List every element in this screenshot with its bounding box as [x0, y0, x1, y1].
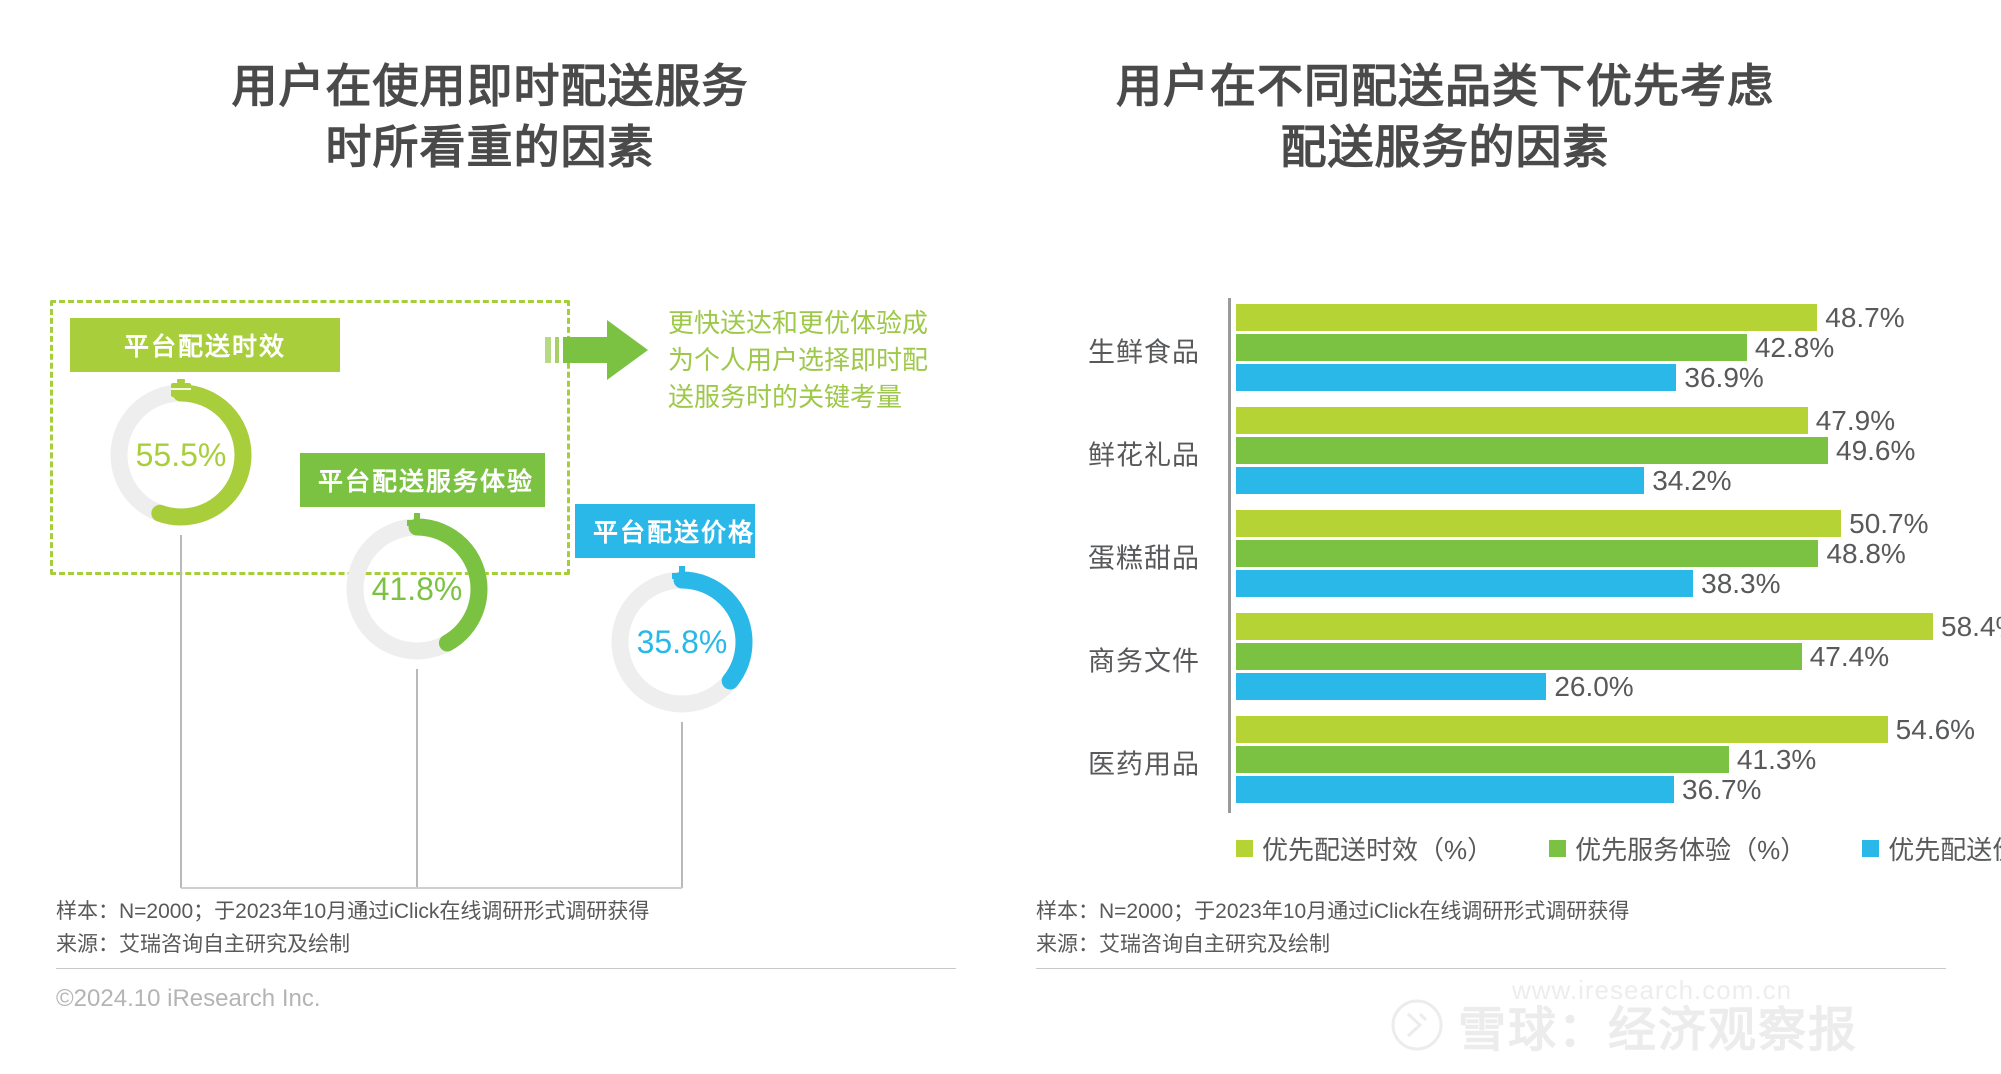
donut-value-3: 35.8% [605, 565, 759, 719]
page-title-left: 用户在使用即时配送服务 时所看重的因素 [40, 56, 940, 177]
chart-value-label: 36.7% [1674, 774, 1761, 806]
chart-bar [1236, 746, 1729, 773]
chart-category-row: 商务文件58.4%47.4%26.0% [1000, 607, 2001, 710]
chart-value-label: 54.6% [1888, 714, 1975, 746]
legend-label: 优先配送价格（%） [1888, 830, 2001, 867]
xueqiu-logo-icon [1390, 998, 1444, 1052]
chart-legend: 优先配送时效（%）优先服务体验（%）优先配送价格（%） [1236, 830, 2001, 867]
chart-bar [1236, 510, 1841, 537]
titles-row: 用户在使用即时配送服务 时所看重的因素 用户在不同配送品类下优先考虑 配送服务的… [0, 0, 2001, 177]
donut-value-2: 41.8% [340, 512, 494, 666]
chart-bar [1236, 334, 1747, 361]
donut-gauge-3: 35.8% [605, 565, 759, 719]
donut-value-1: 55.5% [104, 378, 258, 532]
chart-value-label: 47.4% [1802, 641, 1889, 673]
page-title-left-line-2: 时所看重的因素 [40, 117, 940, 178]
chart-value-label: 34.2% [1644, 465, 1731, 497]
chart-category-row: 医药用品54.6%41.3%36.7% [1000, 710, 2001, 813]
chart-bar [1236, 570, 1693, 597]
bar-chart-panel: 生鲜食品48.7%42.8%36.9%鲜花礼品47.9%49.6%34.2%蛋糕… [1000, 290, 2001, 980]
chart-value-label: 26.0% [1546, 671, 1633, 703]
legend-label: 优先配送时效（%） [1262, 830, 1493, 867]
watermark: 雪球：经济观察报 [1390, 990, 1858, 1060]
chart-value-label: 36.9% [1676, 362, 1763, 394]
legend-item[interactable]: 优先配送价格（%） [1862, 830, 2001, 867]
footnote-right-sample: 样本：N=2000；于2023年10月通过iClick在线调研形式调研获得 [1036, 896, 1629, 929]
chart-value-label: 42.8% [1747, 332, 1834, 364]
footnote-left-sample: 样本：N=2000；于2023年10月通过iClick在线调研形式调研获得 [56, 896, 649, 929]
page-title-left-line-1: 用户在使用即时配送服务 [40, 56, 940, 117]
chart-bar [1236, 643, 1802, 670]
chart-category-row: 鲜花礼品47.9%49.6%34.2% [1000, 401, 2001, 504]
chart-bar [1236, 407, 1808, 434]
legend-item[interactable]: 优先服务体验（%） [1549, 830, 1806, 867]
chart-bar [1236, 364, 1676, 391]
chart-value-label: 48.7% [1817, 302, 1904, 334]
page-title-right-line-1: 用户在不同配送品类下优先考虑 [980, 56, 1910, 117]
chart-value-label: 49.6% [1828, 435, 1915, 467]
chart-bar [1236, 304, 1817, 331]
chart-category-row: 生鲜食品48.7%42.8%36.9% [1000, 298, 2001, 401]
chart-category-label: 生鲜食品 [1000, 330, 1200, 369]
chart-value-label: 58.4% [1933, 611, 2001, 643]
chart-category-label: 蛋糕甜品 [1000, 536, 1200, 575]
chart-category-row: 蛋糕甜品50.7%48.8%38.3% [1000, 504, 2001, 607]
chart-value-label: 50.7% [1841, 508, 1928, 540]
chart-category-label: 商务文件 [1000, 639, 1200, 678]
chart-value-label: 38.3% [1693, 568, 1780, 600]
chart-bar [1236, 673, 1546, 700]
chart-bar [1236, 467, 1644, 494]
chart-bar-group: 50.7%48.8%38.3% [1236, 510, 1996, 602]
footnote-right-source: 来源：艾瑞咨询自主研究及绘制 [1036, 929, 1629, 962]
legend-swatch-icon [1862, 840, 1879, 857]
copyright-text: ©2024.10 iResearch Inc. [56, 985, 321, 1013]
chart-bar-group: 47.9%49.6%34.2% [1236, 407, 1996, 499]
page-title-right-line-2: 配送服务的因素 [980, 117, 1910, 178]
metric-pill-1: 平台配送时效 [70, 318, 340, 372]
chart-value-label: 47.9% [1808, 405, 1895, 437]
chart-bar [1236, 540, 1818, 567]
chart-bar-group: 54.6%41.3%36.7% [1236, 716, 1996, 808]
page-title-right: 用户在不同配送品类下优先考虑 配送服务的因素 [980, 56, 1910, 177]
divider-right [1036, 968, 1946, 969]
footnote-left-source: 来源：艾瑞咨询自主研究及绘制 [56, 929, 649, 962]
legend-item[interactable]: 优先配送时效（%） [1236, 830, 1493, 867]
chart-bar-group: 48.7%42.8%36.9% [1236, 304, 1996, 396]
legend-swatch-icon [1236, 840, 1253, 857]
chart-bar [1236, 437, 1828, 464]
chart-category-label: 鲜花礼品 [1000, 433, 1200, 472]
chart-category-label: 医药用品 [1000, 742, 1200, 781]
chart-bar-group: 58.4%47.4%26.0% [1236, 613, 1996, 705]
insight-note: 更快送达和更优体验成为个人用户选择即时配送服务时的关键考量 [668, 305, 928, 416]
chart-bar [1236, 613, 1933, 640]
right-arrow-icon [545, 315, 650, 385]
legend-label: 优先服务体验（%） [1575, 830, 1806, 867]
watermark-text: 雪球：经济观察报 [1458, 990, 1858, 1060]
donut-panel: 平台配送时效 平台配送服务体验 平台配送价格 55.5% [0, 290, 1000, 980]
chart-value-label: 41.3% [1729, 744, 1816, 776]
metric-pill-3: 平台配送价格 [575, 504, 755, 558]
chart-bar [1236, 776, 1674, 803]
chart-bar [1236, 716, 1888, 743]
divider-left [56, 968, 956, 969]
footnote-left: 样本：N=2000；于2023年10月通过iClick在线调研形式调研获得 来源… [56, 896, 649, 961]
footnote-right: 样本：N=2000；于2023年10月通过iClick在线调研形式调研获得 来源… [1036, 896, 1629, 961]
chart-value-label: 48.8% [1818, 538, 1905, 570]
donut-gauge-2: 41.8% [340, 512, 494, 666]
metric-pill-2: 平台配送服务体验 [300, 453, 545, 507]
donut-gauge-1: 55.5% [104, 378, 258, 532]
legend-swatch-icon [1549, 840, 1566, 857]
